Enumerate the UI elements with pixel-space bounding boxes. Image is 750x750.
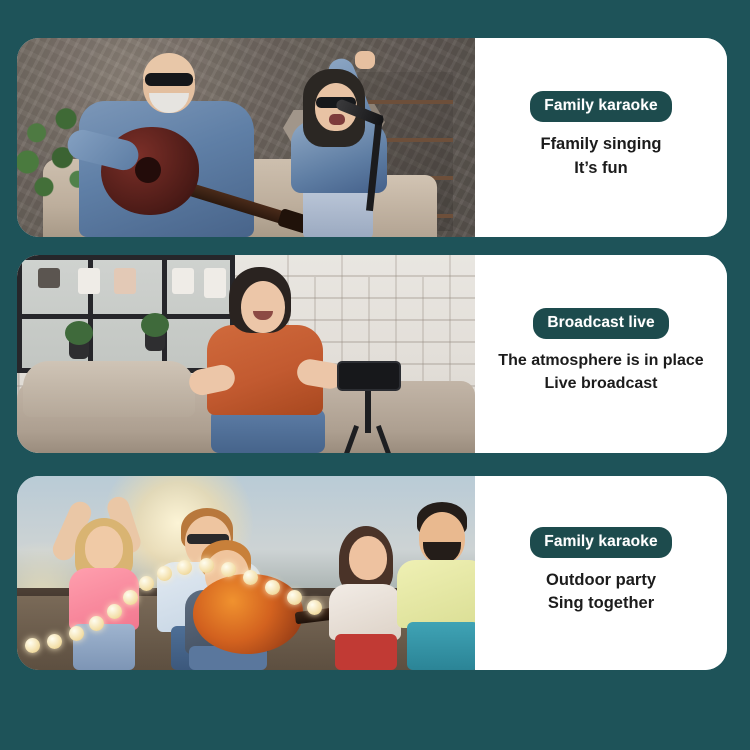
panel-2-description-line-2: Live broadcast (498, 373, 703, 396)
panel-1-text: Family karaoke Ffamily singing It’s fun (475, 38, 727, 237)
feature-panel-3: Family karaoke Outdoor party Sing togeth… (17, 476, 727, 670)
phone-tripod-icon (333, 361, 405, 453)
guitarist-figure (61, 49, 271, 237)
panel-1-description-line-1: Ffamily singing (540, 133, 661, 156)
panel-3-photo (17, 476, 475, 670)
potted-plant-icon (69, 341, 89, 359)
feature-panel-2: Broadcast live The atmosphere is in plac… (17, 255, 727, 453)
cushion-shape (23, 361, 195, 417)
panel-1-description-line-2: It’s fun (540, 157, 661, 180)
panel-1-badge: Family karaoke (530, 91, 671, 122)
panel-1-photo (17, 38, 475, 237)
singer-figure (275, 51, 425, 237)
party-guest-figure (389, 502, 475, 670)
feature-panel-1: Family karaoke Ffamily singing It’s fun (17, 38, 727, 237)
product-feature-poster: Family karaoke Ffamily singing It’s fun (0, 0, 750, 750)
panel-3-description: Outdoor party Sing together (546, 569, 656, 616)
panel-2-text: Broadcast live The atmosphere is in plac… (475, 255, 727, 453)
panel-3-badge: Family karaoke (530, 527, 671, 558)
panel-3-description-line-1: Outdoor party (546, 569, 656, 592)
panel-1-description: Ffamily singing It’s fun (540, 133, 661, 180)
panel-2-description-line-1: The atmosphere is in place (498, 350, 703, 373)
panel-2-description: The atmosphere is in place Live broadcas… (498, 350, 703, 395)
string-lights-icon (25, 542, 325, 648)
panel-3-text: Family karaoke Outdoor party Sing togeth… (475, 476, 727, 670)
panel-2-badge: Broadcast live (533, 308, 668, 339)
panel-3-description-line-2: Sing together (546, 592, 656, 615)
broadcaster-figure (193, 263, 343, 453)
panel-2-photo (17, 255, 475, 453)
potted-plant-icon (145, 333, 165, 351)
